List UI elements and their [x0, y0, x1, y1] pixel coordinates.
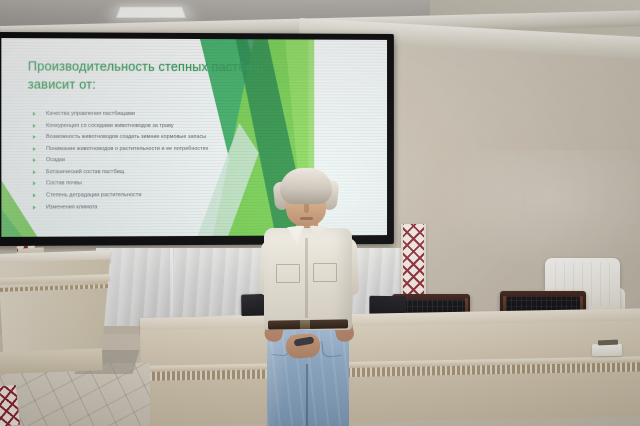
list-item: Возможность животноводов создать зимние … — [32, 134, 285, 141]
drape-fold — [170, 248, 173, 326]
list-item: Состав почвы — [32, 180, 285, 187]
shirt-pocket-left — [276, 264, 300, 283]
triangle-right-icon — [33, 123, 36, 127]
wall-light-reflection — [430, 150, 640, 270]
triangle-right-icon — [33, 158, 36, 162]
jeans-pocket-right — [321, 339, 342, 358]
dark-desk-object — [598, 340, 618, 346]
bullet-text: Состав почвы — [46, 181, 82, 187]
list-item: Понимание животноводов о растительности … — [32, 146, 285, 153]
shirt-placket — [305, 238, 308, 318]
presenter-mouth — [300, 217, 313, 220]
bullet-text: Качества управления пастбищами — [46, 111, 135, 117]
standing-presenter — [248, 168, 364, 426]
bullet-text: Степень деградации растительности — [46, 192, 141, 198]
list-item: Качества управления пастбищами — [32, 111, 285, 118]
lectern-base — [0, 348, 103, 374]
list-item: Конкуренция со соседами животноводов за … — [32, 122, 285, 129]
triangle-right-icon — [33, 147, 36, 151]
triangle-right-icon — [33, 205, 36, 209]
list-item: Ботанический состав пастбищ — [32, 169, 285, 176]
triangle-right-icon — [33, 193, 36, 197]
presenter-nose — [304, 203, 309, 213]
triangle-right-icon — [33, 135, 36, 139]
white-desk-object — [592, 344, 622, 357]
presentation-room-photo: Производительность степных пастбищ завис… — [0, 0, 640, 426]
slide-title: Производительность степных пастбищ завис… — [28, 58, 289, 95]
bullet-text: Понимание животноводов о растительности … — [46, 146, 208, 152]
bullet-text: Конкуренция со соседами животноводов за … — [46, 122, 174, 128]
triangle-right-icon — [33, 112, 36, 116]
belt-buckle — [300, 320, 310, 329]
bullet-text: Изменения климата — [46, 204, 97, 210]
slide-bullet-list: Качества управления пастбищами Конкуренц… — [32, 111, 285, 216]
recessed-ceiling-light-icon — [116, 7, 186, 18]
list-item: Изменения климата — [32, 203, 285, 210]
bullet-text: Ботанический состав пастбищ — [46, 169, 124, 175]
presenter-hands — [285, 333, 321, 359]
jeans-seam — [306, 364, 308, 426]
bullet-text: Возможность животноводов создать зимние … — [46, 134, 206, 140]
triangle-right-icon — [33, 182, 36, 186]
bullet-text: Осадки — [46, 157, 65, 163]
list-item: Осадки — [32, 157, 285, 164]
triangle-right-icon — [33, 170, 36, 174]
list-item: Степень деградации растительности — [32, 192, 285, 199]
presenter-hair — [280, 168, 332, 204]
shirt-pocket-right — [313, 263, 337, 282]
